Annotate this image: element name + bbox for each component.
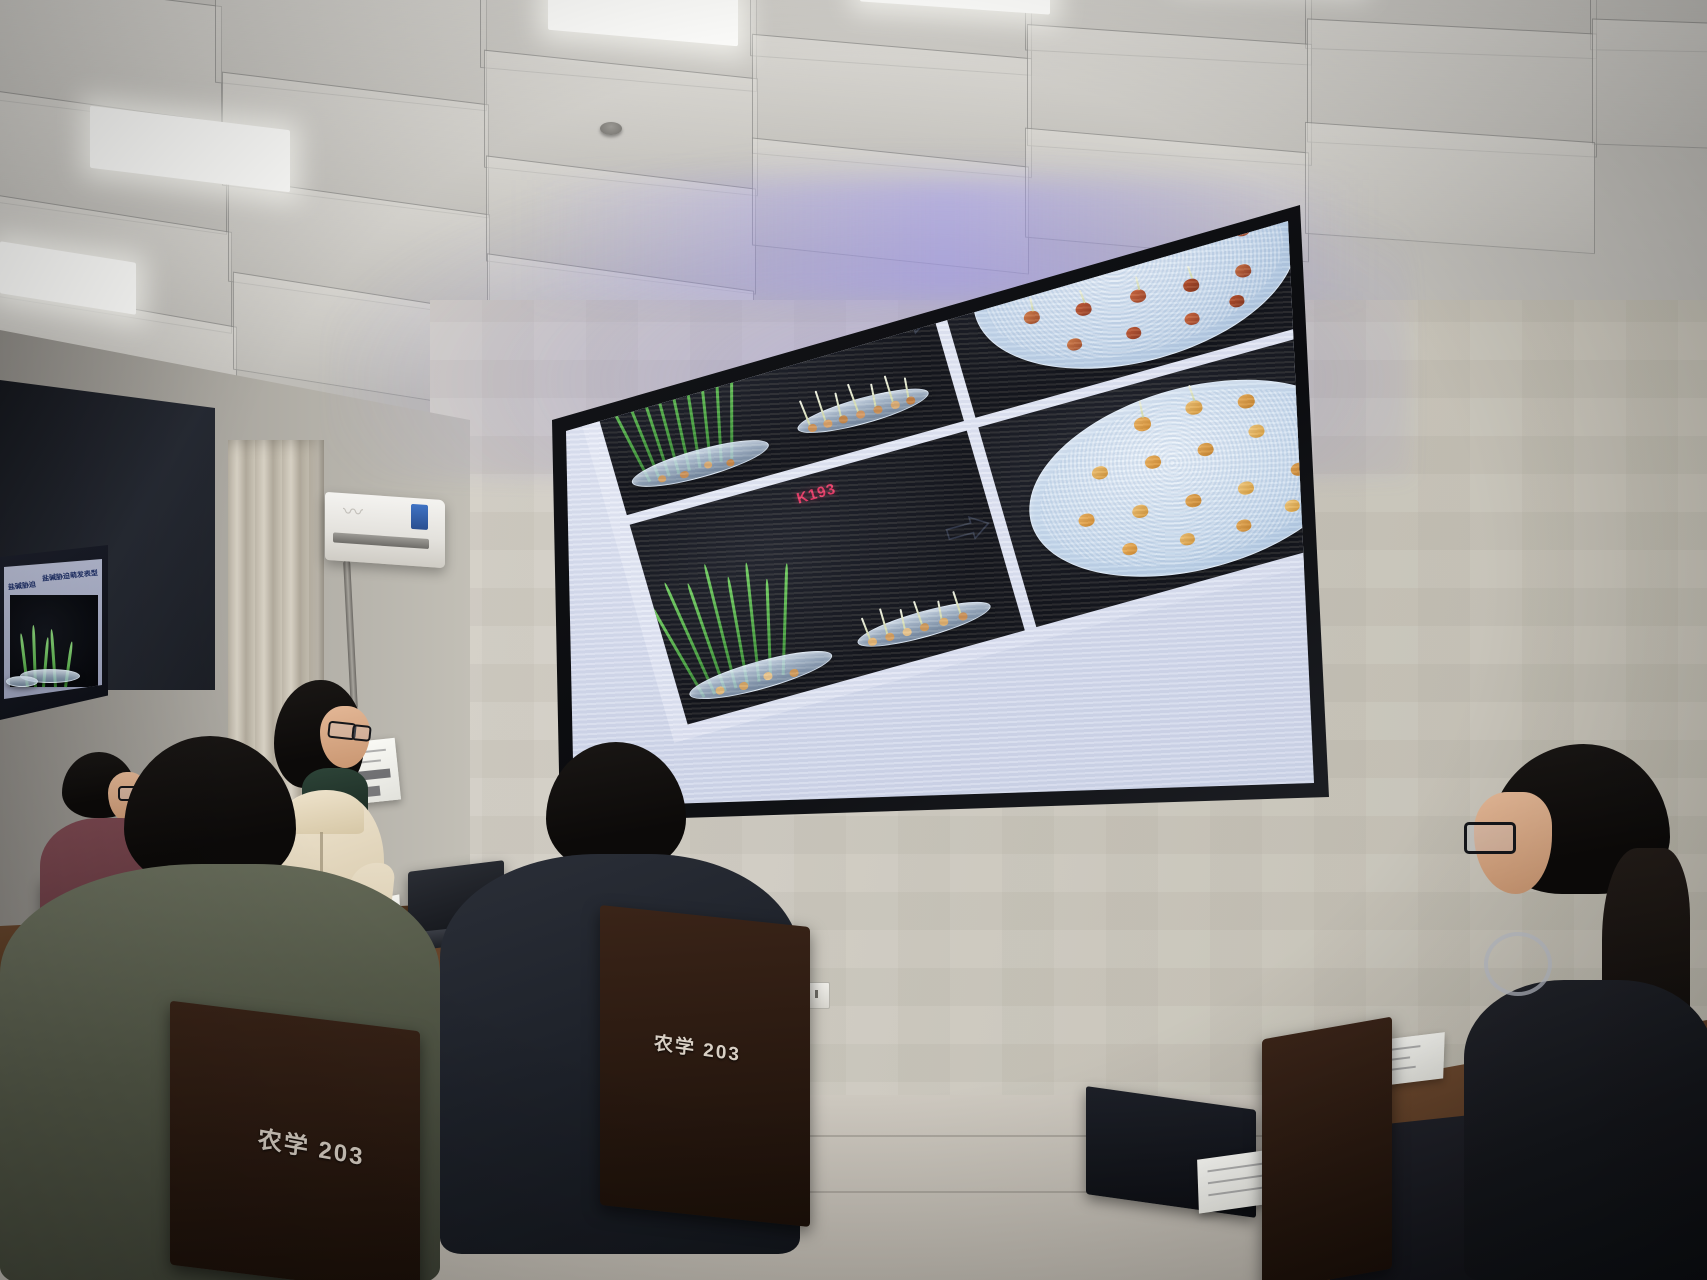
slide-section-label: 研究材料与方法 <box>569 225 748 307</box>
cultivar-tag-k193: K193 <box>795 480 838 507</box>
slide-accent-rule <box>680 205 1259 231</box>
presenter-collar <box>288 790 364 834</box>
smoke-detector-icon <box>600 122 622 135</box>
secondary-display: 盐碱胁迫 盐碱胁迫萌发表型 <box>0 545 108 720</box>
chair-center[interactable] <box>600 905 810 1227</box>
ac-swirl-decal: 〰 <box>343 503 395 525</box>
air-conditioner: 〰 <box>325 492 445 568</box>
ac-badge-icon <box>411 504 428 530</box>
secondary-display-title-b: 盐碱胁迫萌发表型 <box>42 568 99 584</box>
audience-right-lanyard <box>1484 932 1552 996</box>
slide-section-rule <box>572 238 833 314</box>
presenter-glasses-icon-right <box>351 724 372 742</box>
presentation-slide: 盐碱胁迫第7 d萌发表型 研究材料与方法 <box>540 205 1340 743</box>
chair-right[interactable] <box>1262 1017 1392 1280</box>
secondary-display-surface: 盐碱胁迫 盐碱胁迫萌发表型 <box>4 559 102 699</box>
conference-room-photo: 〰 盐碱胁迫 盐碱胁迫萌发表型 盐碱胁迫第7 d萌 <box>0 0 1707 1280</box>
projection-screen-surface: 盐碱胁迫第7 d萌发表型 研究材料与方法 <box>540 205 1340 825</box>
audience-right-torso <box>1464 980 1707 1280</box>
slide-body: K216 <box>571 205 1340 725</box>
cultivar-tag-k216: K216 <box>740 276 783 303</box>
secondary-display-title-a: 盐碱胁迫 <box>8 580 37 593</box>
ac-vent <box>333 532 429 549</box>
projection-screen: 盐碱胁迫第7 d萌发表型 研究材料与方法 <box>540 205 1340 825</box>
audience-right-glasses-icon <box>1464 822 1516 854</box>
secondary-display-photo <box>10 595 98 687</box>
